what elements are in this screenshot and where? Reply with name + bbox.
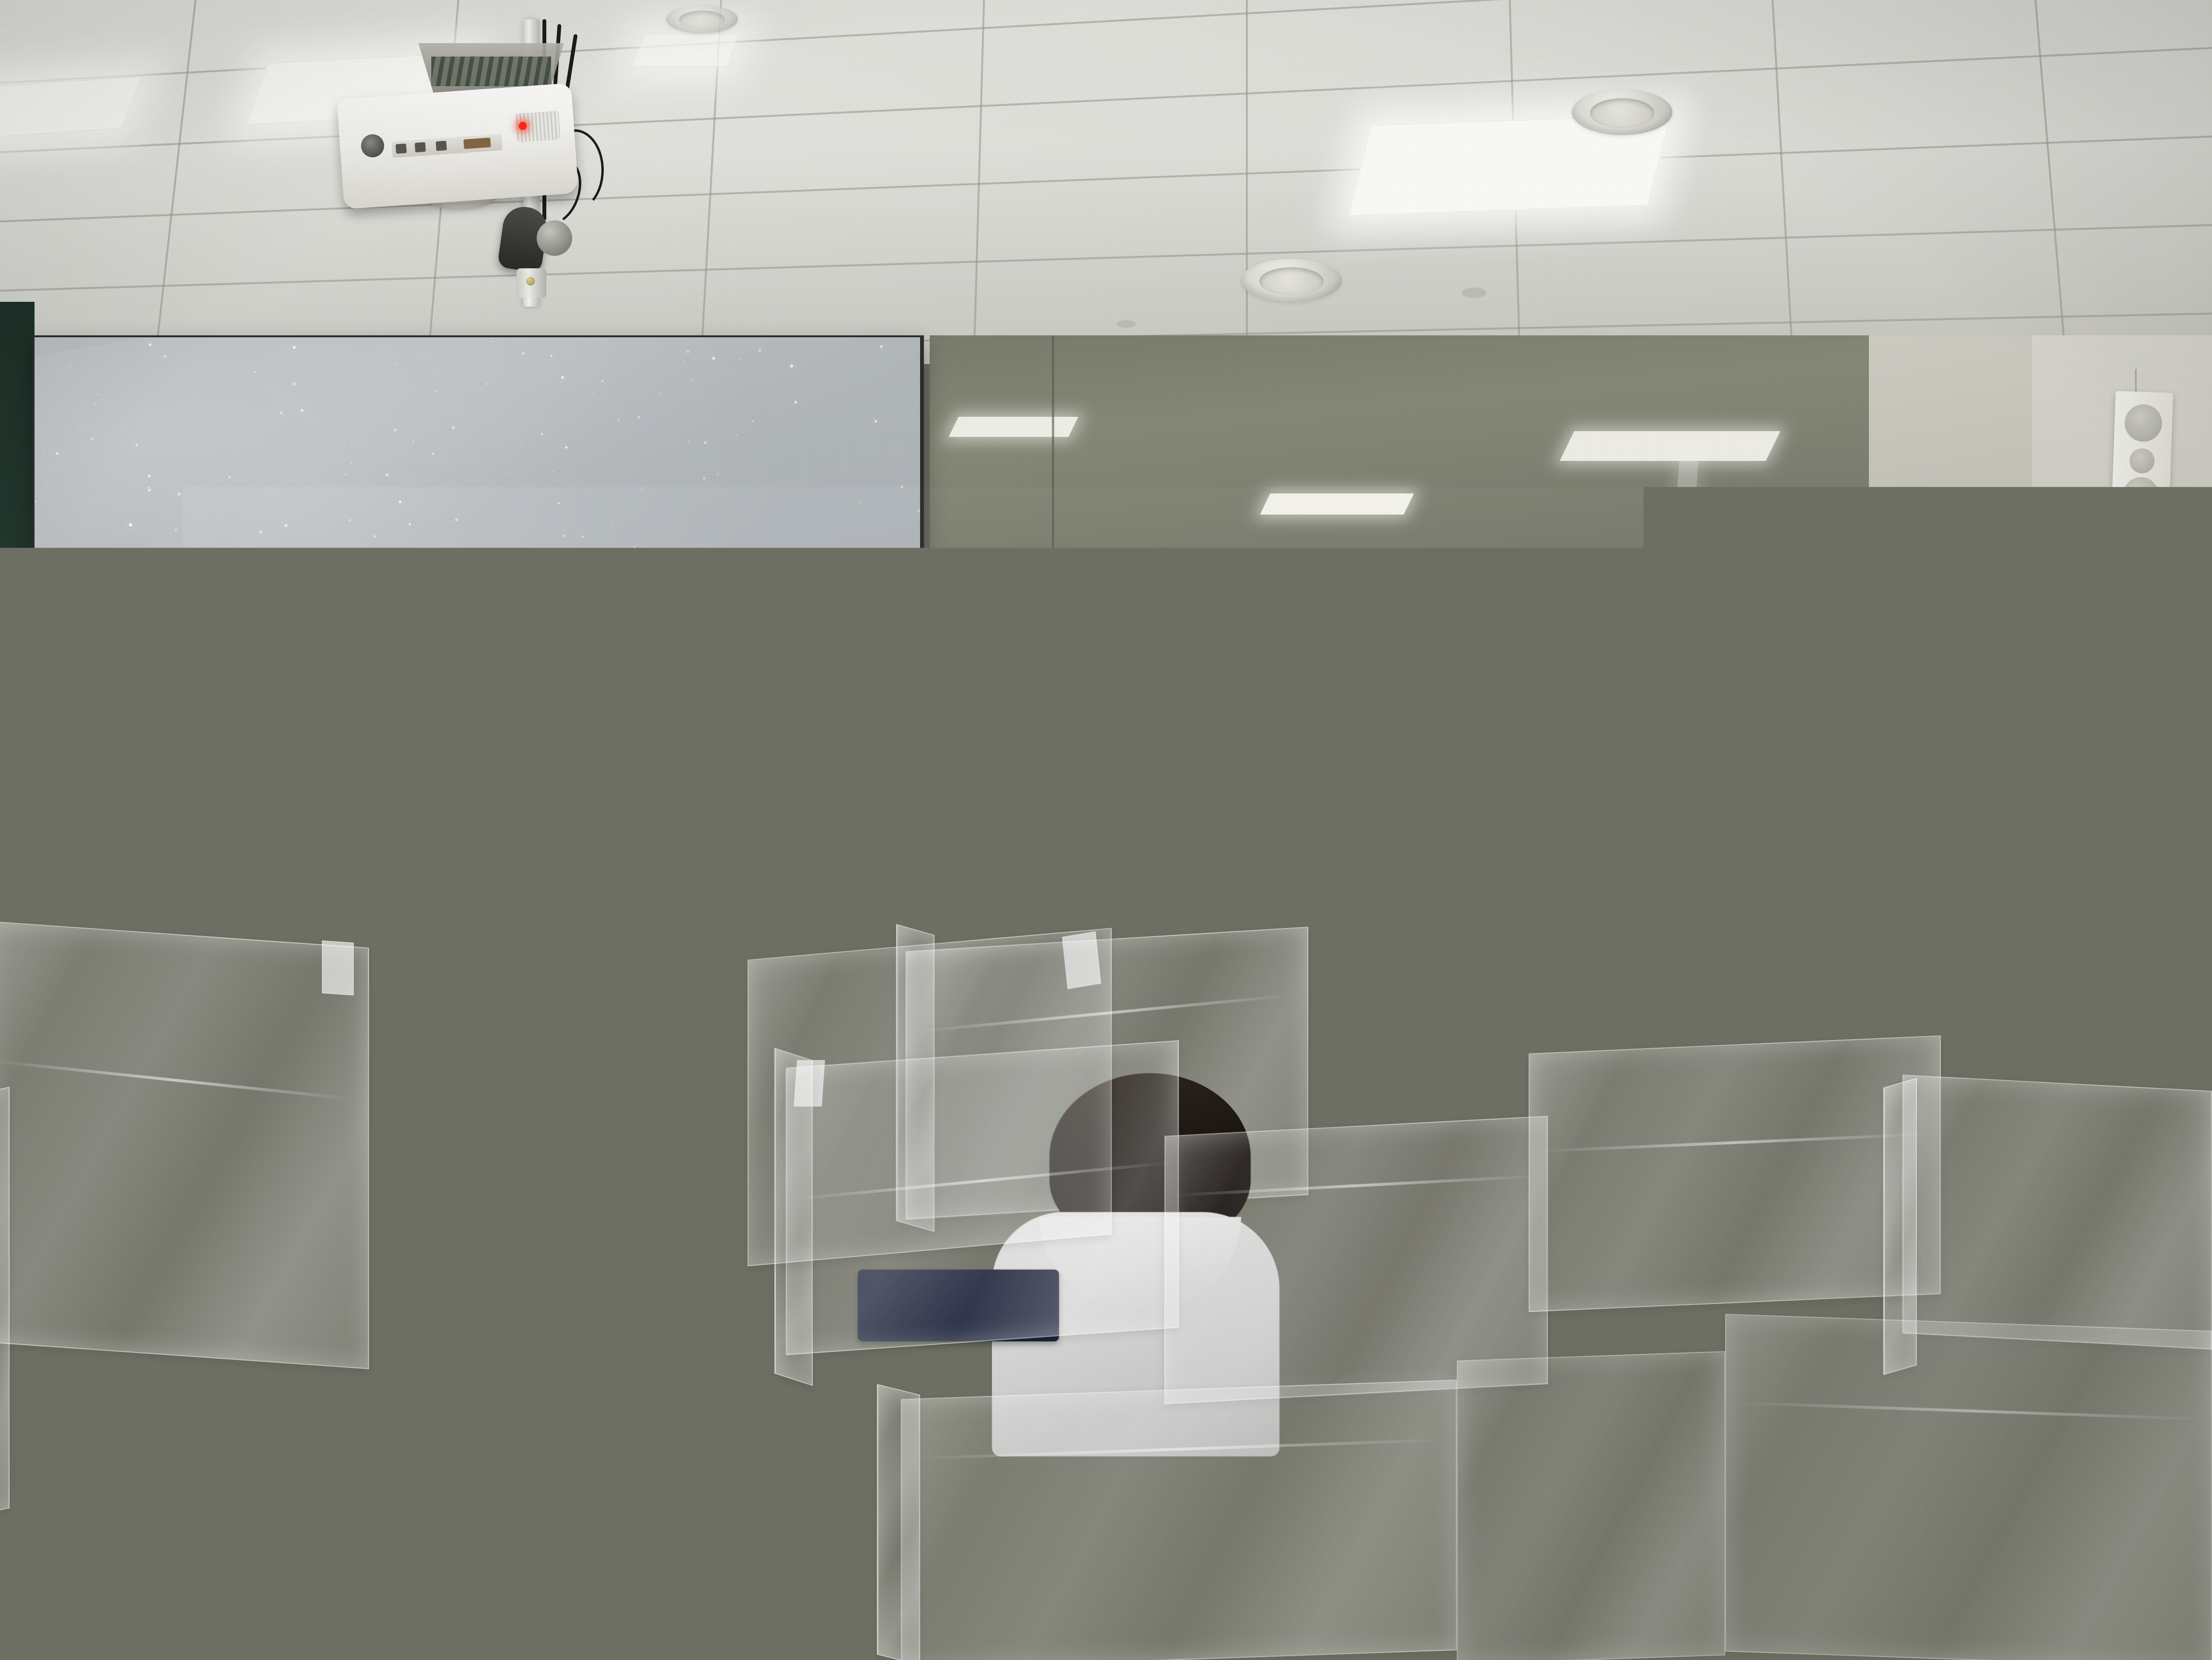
projector-body: [337, 83, 579, 209]
slide-title: [ THAK YOU ]: [141, 562, 527, 627]
divider-glint: [1173, 1175, 1537, 1197]
ceiling-vent: [1241, 259, 1342, 302]
teal-header-poster: [2099, 881, 2195, 962]
handheld-microphone-head: [1647, 819, 1679, 854]
slide-starfield: [35, 337, 920, 998]
ceiling-light-panel: [631, 34, 739, 67]
pole-screw-icon: [526, 277, 535, 286]
chalkboard-rail: [937, 568, 2029, 582]
acrylic-divider: [901, 1380, 1457, 1660]
acrylic-divider: [1457, 1351, 1725, 1660]
ceiling: [0, 0, 2212, 364]
left-wall-dark-panel: [0, 302, 35, 1020]
water-bottle-cap: [1717, 884, 1732, 897]
acrylic-divider: [1529, 1035, 1941, 1312]
slide-url: www.mangoboard.net: [600, 921, 858, 940]
acrylic-divider: [1902, 1075, 2212, 1350]
camera-dome: [537, 220, 572, 256]
wall-speaker: [2111, 391, 2173, 532]
divider-tape: [322, 940, 354, 996]
light-reflection: [1560, 431, 1780, 461]
presenter-glasses-icon: [1650, 763, 1726, 767]
slide-copyright-block: Copyright ⓒ mangoboard All Rights Reserv…: [600, 902, 858, 940]
projection-screen: [ THAK YOU ] '비전' 디자인 제작 플랫폼, 망고보드 Copyr…: [35, 337, 920, 998]
light-reflection: [1675, 461, 1698, 518]
divider-glint: [1736, 1401, 2205, 1420]
acrylic-divider: [0, 921, 369, 1369]
acrylic-divider: [1725, 1314, 2212, 1660]
divider-glint: [0, 1060, 356, 1101]
projector-mount-hardware: [431, 57, 551, 86]
speaker-cone-icon: [2124, 404, 2163, 443]
projector-lens-icon: [360, 134, 385, 158]
ceiling-vent: [1572, 89, 1672, 135]
smoke-detector-icon: [1117, 320, 1136, 328]
speaker-wire: [2135, 369, 2137, 394]
ceiling-vent: [666, 5, 738, 34]
slide-copyright-text: Copyright ⓒ mangoboard All Rights Reserv…: [600, 904, 858, 918]
poster-header-bar: [2105, 886, 2189, 895]
projector-assembly: [335, 19, 633, 326]
speaker-badge-icon: [2136, 506, 2147, 513]
acrylic-divider-side: [0, 1087, 10, 1519]
white-marker-icon: [1565, 849, 1572, 890]
smoke-detector-icon: [1462, 287, 1486, 298]
classroom-scene: [ THAK YOU ] '비전' 디자인 제작 플랫폼, 망고보드 Copyr…: [0, 0, 2212, 1660]
acrylic-divider-side: [877, 1384, 920, 1660]
light-reflection: [1260, 493, 1414, 515]
desk-leg: [144, 1476, 156, 1658]
water-bottle: [1711, 895, 1738, 958]
divider-glint: [911, 1438, 1448, 1460]
wall-panel-seam: [1052, 335, 1054, 575]
light-reflection: [949, 417, 1078, 437]
chair: [0, 1466, 115, 1562]
notice-header-bar: [1697, 701, 1735, 706]
blue-container: [2075, 993, 2132, 1050]
projector-port-panel: [392, 134, 503, 158]
blue-marker-icon: [1585, 852, 1592, 893]
acrylic-divider: [748, 928, 1112, 1266]
divider-glint: [1537, 1133, 1930, 1153]
ceiling-tile-grid: [0, 0, 2212, 364]
speaker-cone-icon: [2129, 448, 2155, 474]
